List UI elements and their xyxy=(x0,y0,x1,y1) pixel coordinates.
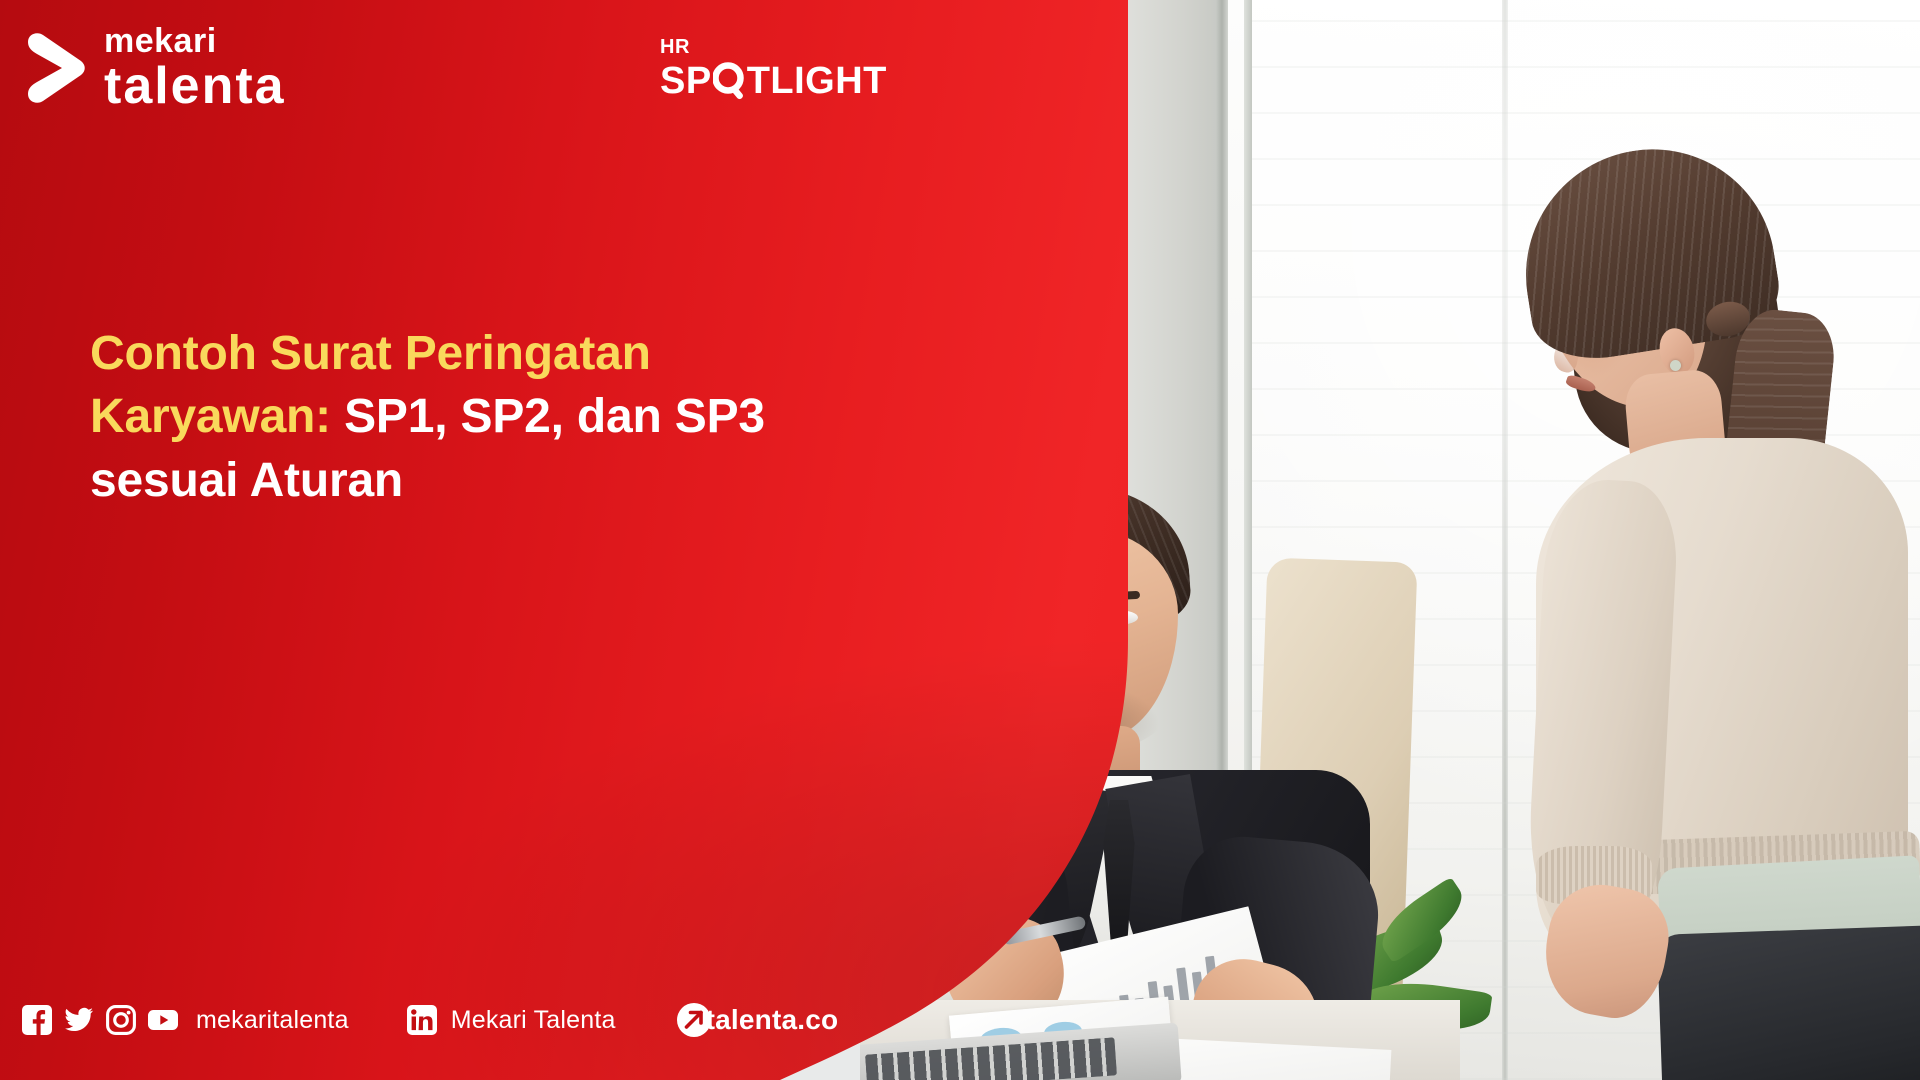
employee-earring xyxy=(1670,360,1681,371)
banner-image: mekari talenta HR SP TLIGHT Contoh Surat… xyxy=(0,0,1920,1080)
spotlight-text-after: TLIGHT xyxy=(747,62,887,100)
employee-trousers xyxy=(1657,925,1920,1080)
spotlight-text-before: SP xyxy=(660,62,712,100)
facebook-icon[interactable] xyxy=(22,1005,52,1035)
magnifying-glass-icon xyxy=(713,62,746,100)
page-title: Contoh Surat Peringatan Karyawan: SP1, S… xyxy=(90,322,850,512)
social-icons xyxy=(22,1005,178,1035)
brand-name-mekari: mekari xyxy=(104,24,286,58)
linkedin-group[interactable]: Mekari Talenta xyxy=(407,1005,616,1035)
mekari-talenta-wordmark: mekari talenta xyxy=(104,24,286,112)
social-handle-group[interactable]: mekaritalenta xyxy=(22,1005,349,1035)
hr-spotlight-wordmark: SP TLIGHT xyxy=(660,62,887,100)
website-group[interactable]: talenta.co xyxy=(676,1002,839,1038)
brand-name-talenta: talenta xyxy=(104,60,286,112)
linkedin-name-text: Mekari Talenta xyxy=(451,1006,616,1035)
footer-bar: mekaritalenta Mekari Talenta talenta.co xyxy=(22,1002,838,1038)
mekari-chevron-icon xyxy=(24,31,86,105)
instagram-icon[interactable] xyxy=(106,1005,136,1035)
red-brand-panel xyxy=(0,0,1180,1080)
hr-spotlight-logo: HR SP TLIGHT xyxy=(660,36,887,100)
hr-spotlight-kicker: HR xyxy=(660,36,887,59)
mekari-talenta-logo[interactable]: mekari talenta xyxy=(24,24,286,112)
twitter-icon[interactable] xyxy=(64,1005,94,1035)
social-handle-text: mekaritalenta xyxy=(196,1006,349,1035)
linkedin-icon[interactable] xyxy=(407,1005,437,1035)
website-text: talenta.co xyxy=(706,1004,839,1036)
youtube-icon[interactable] xyxy=(148,1005,178,1035)
